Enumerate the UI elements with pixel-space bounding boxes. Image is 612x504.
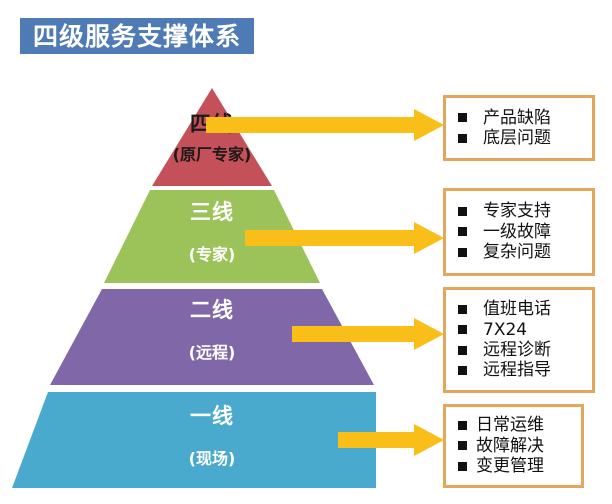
bullet-square-icon bbox=[458, 248, 467, 257]
bullet-square-icon bbox=[458, 113, 467, 122]
callout-item: 远程诊断 bbox=[458, 340, 582, 360]
callout-item-label: 一级故障 bbox=[483, 222, 551, 242]
bullet-square-icon bbox=[458, 346, 467, 355]
pyramid-tier-1-shape[interactable] bbox=[12, 392, 376, 488]
bullet-square-icon bbox=[458, 441, 467, 450]
arrow-to-tier-2-callout bbox=[292, 318, 444, 350]
callout-box-tier-1: 日常运维 故障解决 变更管理 bbox=[443, 404, 584, 488]
callout-item-label: 故障解决 bbox=[476, 436, 544, 456]
bullet-square-icon bbox=[458, 305, 467, 314]
callout-item-label: 日常运维 bbox=[476, 415, 544, 435]
bullet-square-icon bbox=[458, 462, 467, 471]
callout-item: 7X24 bbox=[458, 320, 582, 340]
callout-item: 变更管理 bbox=[458, 456, 571, 476]
callout-item: 故障解决 bbox=[458, 436, 571, 456]
callout-box-tier-4: 产品缺陷 底层问题 bbox=[443, 95, 595, 161]
callout-item: 产品缺陷 bbox=[458, 108, 582, 128]
arrow-to-tier-3-callout bbox=[245, 222, 444, 254]
bullet-square-icon bbox=[458, 134, 467, 143]
callout-item-label: 变更管理 bbox=[476, 456, 544, 476]
callout-item: 一级故障 bbox=[458, 222, 582, 242]
callout-item-label: 复杂问题 bbox=[483, 242, 551, 262]
callout-item: 专家支持 bbox=[458, 201, 582, 221]
bullet-square-icon bbox=[458, 227, 467, 236]
callout-item: 日常运维 bbox=[458, 415, 571, 435]
callout-item-label: 7X24 bbox=[483, 320, 527, 340]
callout-box-tier-3: 专家支持 一级故障 复杂问题 bbox=[443, 188, 595, 276]
arrow-to-tier-4-callout bbox=[206, 109, 444, 141]
bullet-square-icon bbox=[458, 207, 467, 216]
callout-item-label: 值班电话 bbox=[483, 299, 551, 319]
callout-item-label: 底层问题 bbox=[483, 128, 551, 148]
callout-item: 值班电话 bbox=[458, 299, 582, 319]
bullet-square-icon bbox=[458, 325, 467, 334]
bullet-square-icon bbox=[458, 421, 467, 430]
callout-item: 底层问题 bbox=[458, 128, 582, 148]
arrow-to-tier-1-callout bbox=[338, 424, 444, 456]
callout-item: 复杂问题 bbox=[458, 242, 582, 262]
bullet-square-icon bbox=[458, 366, 467, 375]
callout-item-label: 专家支持 bbox=[483, 201, 551, 221]
callout-box-tier-2: 值班电话 7X24 远程诊断 远程指导 bbox=[443, 287, 595, 393]
callout-item-label: 产品缺陷 bbox=[483, 108, 551, 128]
callout-item-label: 远程诊断 bbox=[483, 340, 551, 360]
callout-item-label: 远程指导 bbox=[483, 360, 551, 380]
callout-item: 远程指导 bbox=[458, 360, 582, 380]
